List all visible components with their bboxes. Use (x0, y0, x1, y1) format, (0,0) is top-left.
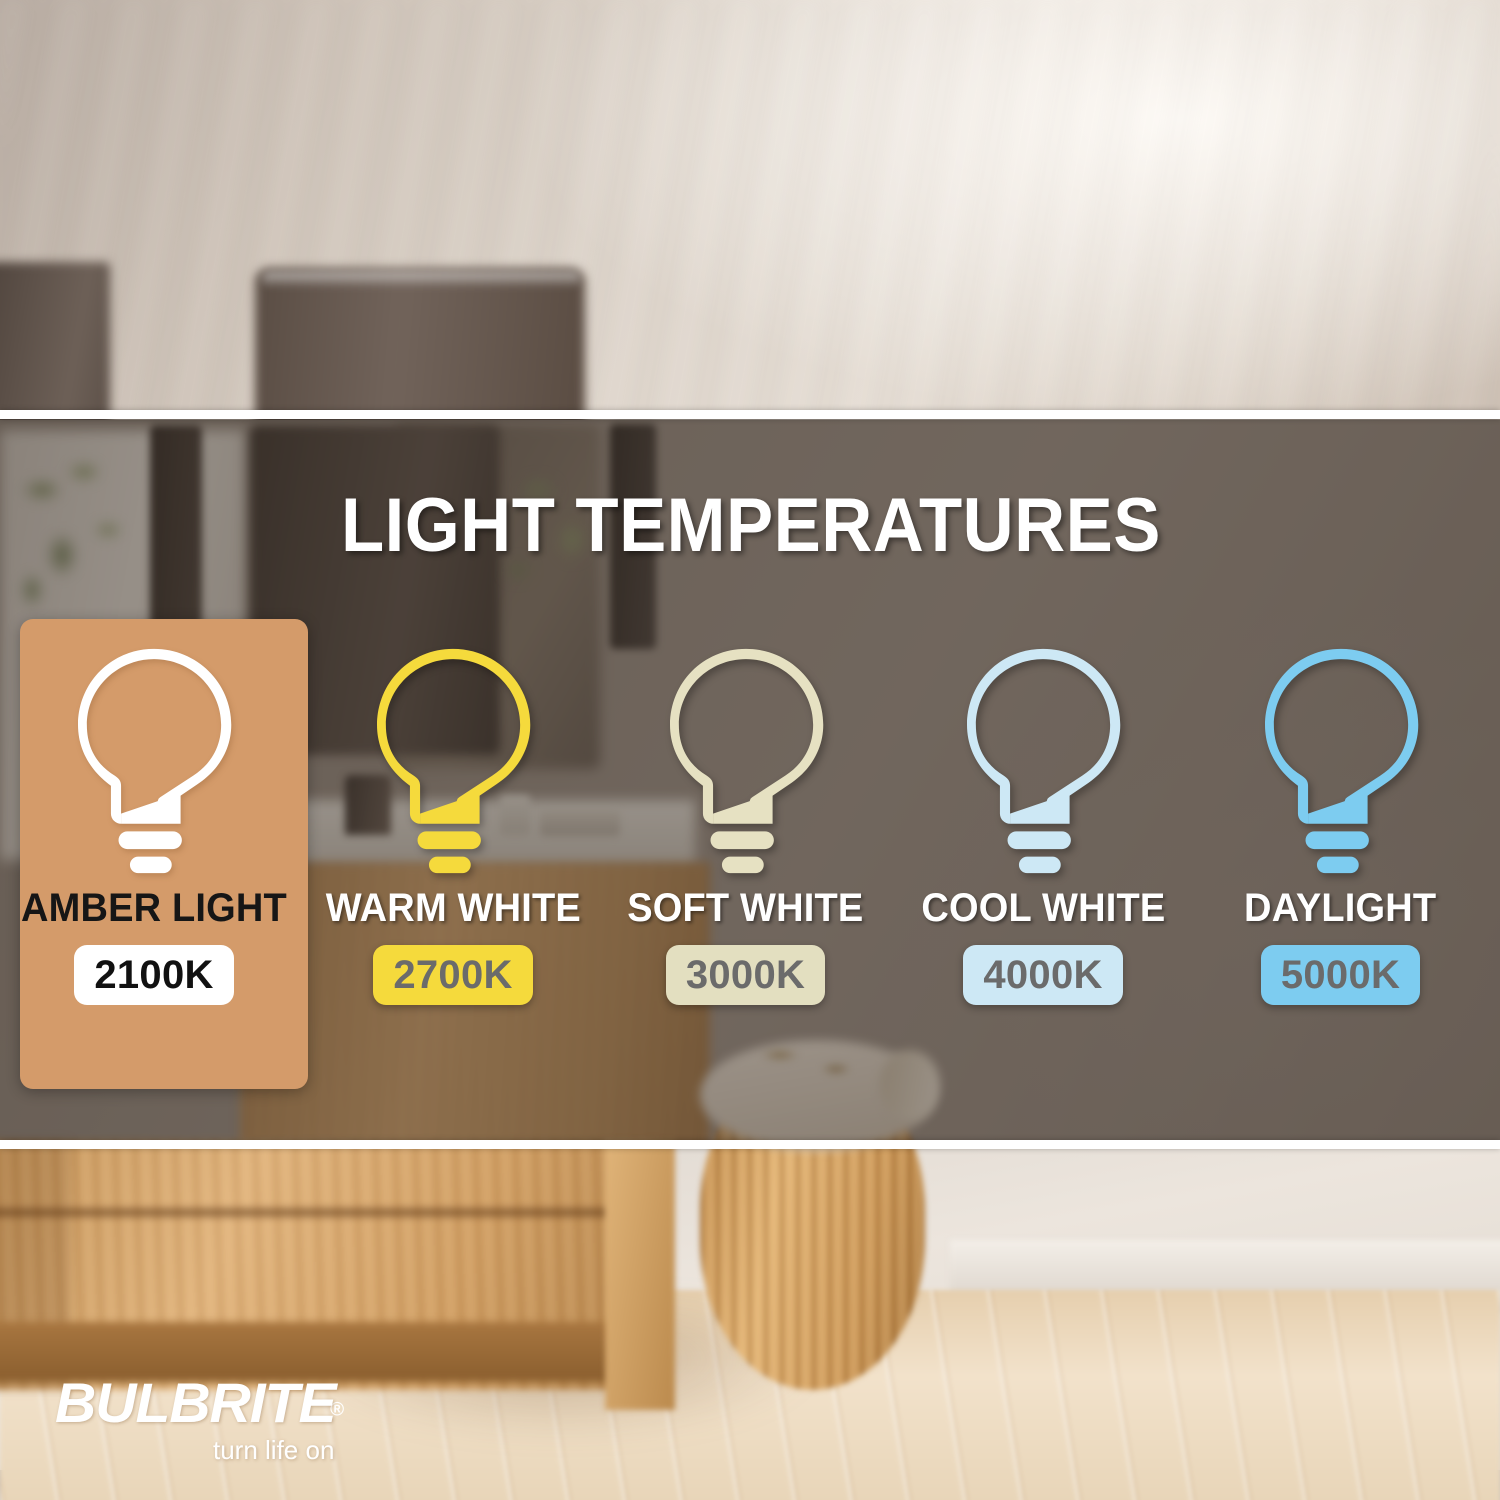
kelvin-badge: 2100K (74, 945, 233, 1005)
swatch-daylight[interactable]: DAYLIGHT 5000K (1193, 619, 1488, 1089)
swatch-label: DAYLIGHT (1244, 888, 1436, 928)
infographic-canvas: LIGHT TEMPERATURES AMBER LIGHT (0, 0, 1500, 1500)
lightbulb-icon (59, 641, 249, 876)
brand-wordmark-row: BULBRITE® (55, 1375, 344, 1431)
lightbulb-icon (1246, 641, 1436, 876)
swatch-cool-white[interactable]: COOL WHITE 4000K (893, 619, 1193, 1089)
brand-tagline: turn life on (213, 1437, 344, 1463)
page-title: LIGHT TEMPERATURES (341, 482, 1161, 569)
swatch-label: SOFT WHITE (627, 888, 863, 928)
lightbulb-icon (358, 641, 548, 876)
lightbulb-icon (948, 641, 1138, 876)
kelvin-badge: 5000K (1261, 945, 1420, 1005)
swatch-row: AMBER LIGHT 2100K WARM WHITE (0, 619, 1500, 1089)
swatch-amber-light[interactable]: AMBER LIGHT 2100K (0, 619, 308, 1089)
brand-logo: BULBRITE® turn life on (55, 1375, 344, 1463)
swatch-label: WARM WHITE (325, 888, 580, 928)
content-layer: LIGHT TEMPERATURES AMBER LIGHT (0, 0, 1500, 1500)
kelvin-badge: 3000K (666, 945, 825, 1005)
swatch-label: COOL WHITE (921, 888, 1165, 928)
lightbulb-icon (651, 641, 841, 876)
swatch-warm-white[interactable]: WARM WHITE 2700K (308, 619, 598, 1089)
swatch-soft-white[interactable]: SOFT WHITE 3000K (598, 619, 893, 1089)
kelvin-badge: 4000K (963, 945, 1122, 1005)
kelvin-badge: 2700K (373, 945, 532, 1005)
brand-wordmark: BULBRITE (55, 1375, 336, 1431)
swatch-label: AMBER LIGHT (21, 888, 287, 928)
